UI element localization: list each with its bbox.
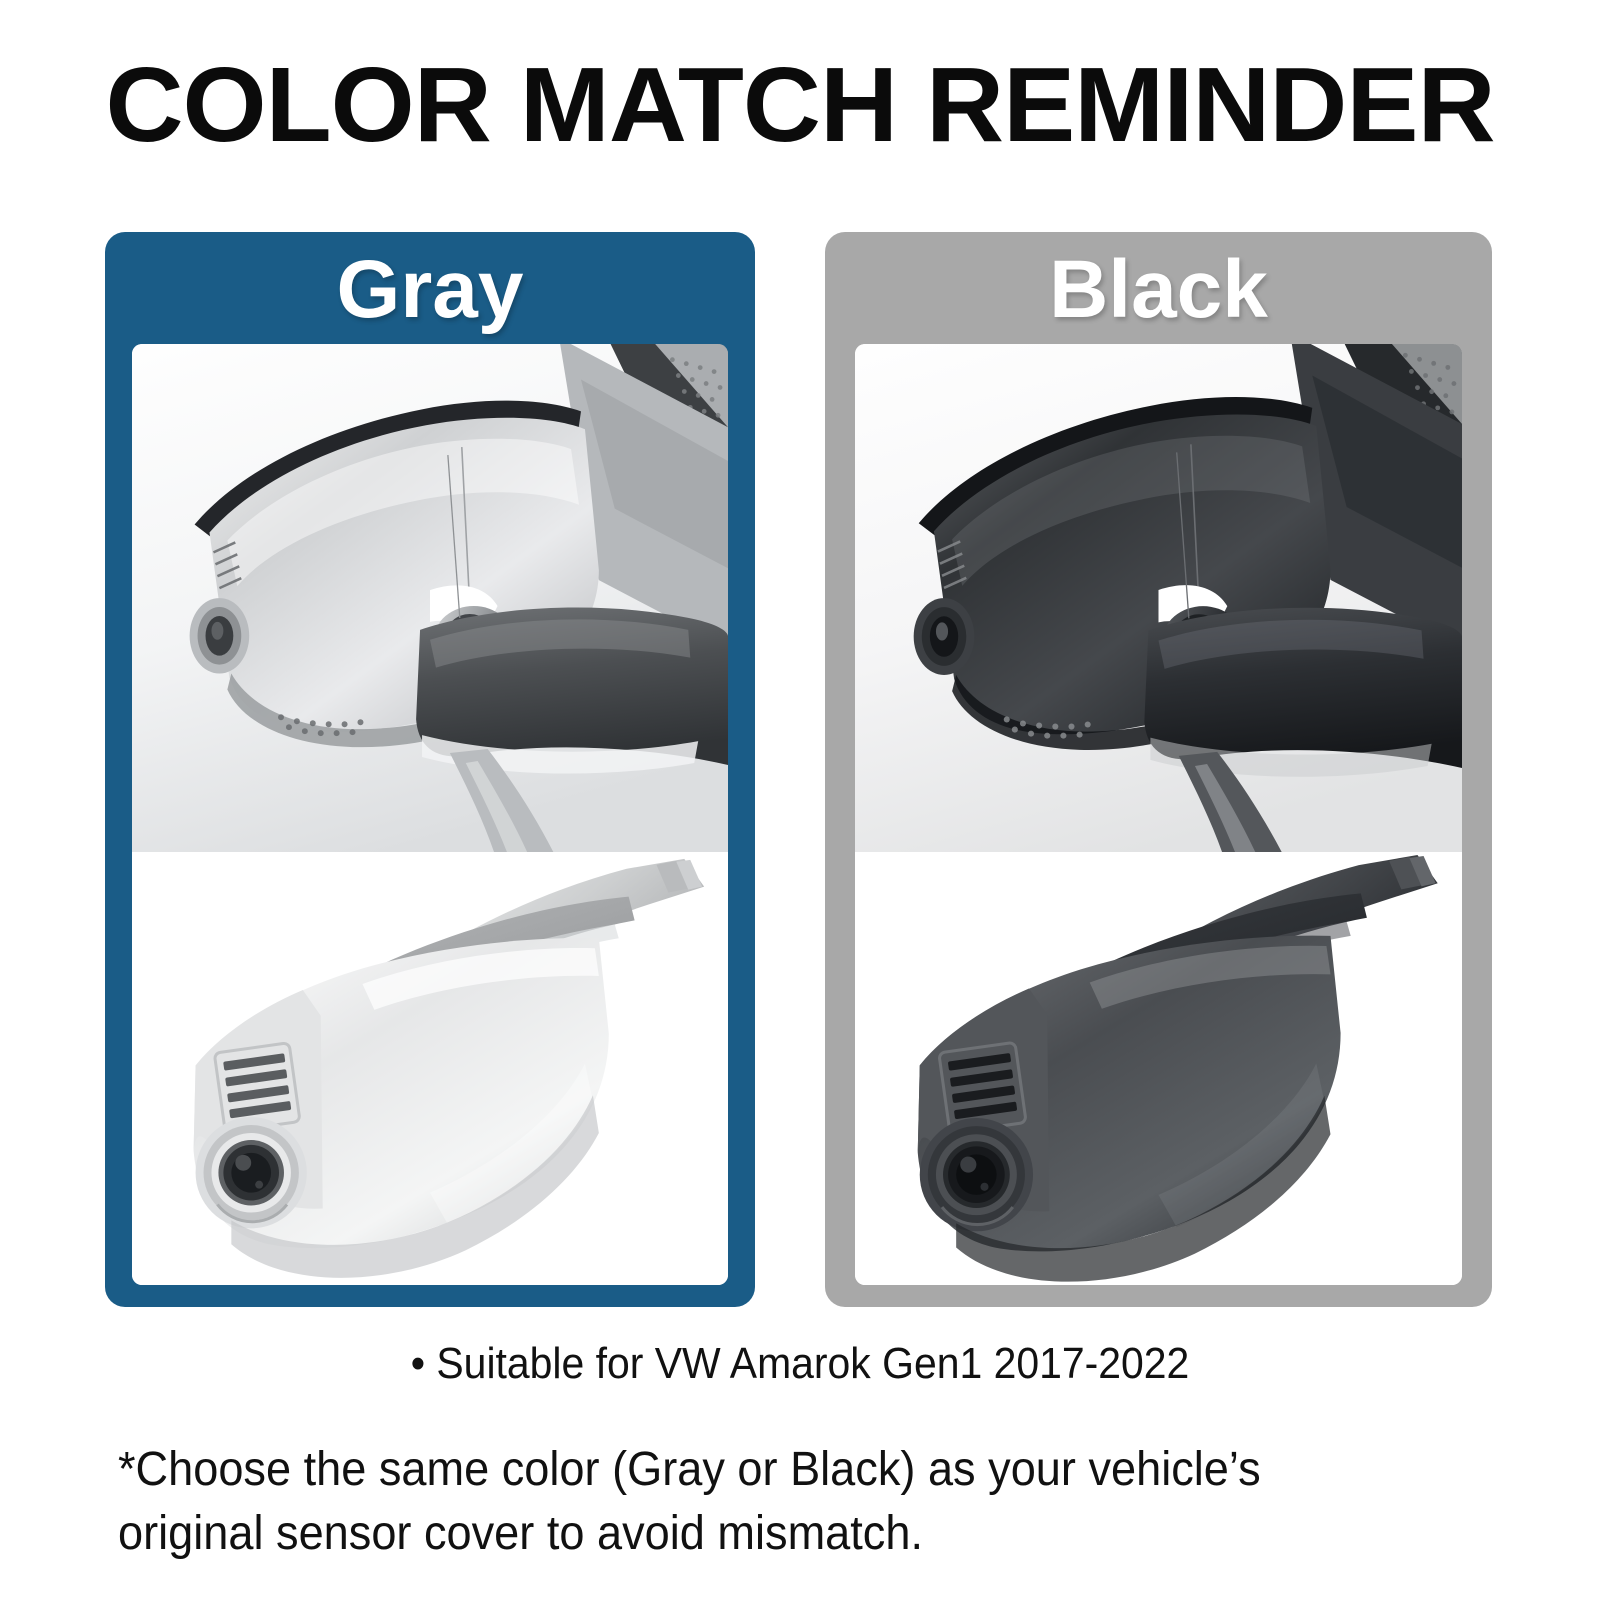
gray-dashcam-product-view — [132, 852, 728, 1285]
page-title: COLOR MATCH REMINDER — [0, 52, 1600, 158]
disclaimer-line-1: *Choose the same color (Gray or Black) a… — [118, 1438, 1406, 1502]
gray-dashcam-installed-on-windshield — [132, 344, 728, 852]
color-option-gray-panel[interactable]: Gray — [105, 232, 755, 1307]
panel-header-black: Black — [825, 240, 1492, 340]
color-choice-disclaimer: *Choose the same color (Gray or Black) a… — [118, 1438, 1406, 1566]
color-option-black-panel[interactable]: Black — [825, 232, 1492, 1307]
black-dashcam-product-view — [855, 852, 1462, 1285]
black-image-card — [855, 344, 1462, 1285]
disclaimer-line-2: original sensor cover to avoid mismatch. — [118, 1502, 1406, 1566]
black-dashcam-installed-on-windshield — [855, 344, 1462, 852]
panel-header-gray: Gray — [105, 240, 755, 340]
color-variant-panels: Gray — [0, 232, 1600, 1310]
gray-image-card — [132, 344, 728, 1285]
compatibility-note: • Suitable for VW Amarok Gen1 2017-2022 — [56, 1334, 1544, 1394]
